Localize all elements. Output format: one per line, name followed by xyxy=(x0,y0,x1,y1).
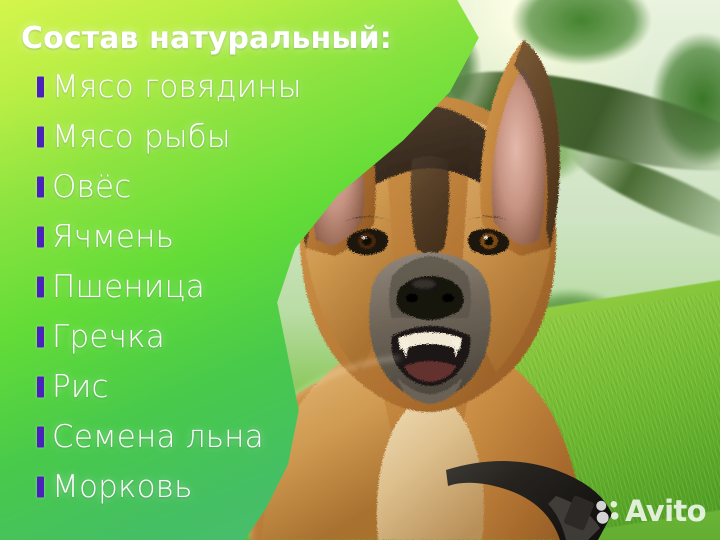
ingredient-label: Рис xyxy=(52,372,109,403)
list-item: Гречка xyxy=(0,312,420,362)
list-item: Морковь xyxy=(0,462,420,512)
ingredient-label: Морковь xyxy=(52,472,193,503)
list-item: Пшеница xyxy=(0,262,420,312)
vertical-bar-bullet-icon xyxy=(37,427,44,448)
ingredient-list: Мясо говядины Мясо рыбы Овёс Ячмень Пшен… xyxy=(0,62,420,512)
vertical-bar-bullet-icon xyxy=(37,327,44,348)
avito-watermark: Avito xyxy=(595,497,706,526)
vertical-bar-bullet-icon xyxy=(37,127,44,148)
list-item: Ячмень xyxy=(0,212,420,262)
ingredient-label: Овёс xyxy=(52,172,131,203)
ingredient-label: Ячмень xyxy=(52,222,174,253)
vertical-bar-bullet-icon xyxy=(37,227,44,248)
ingredient-label: Мясо рыбы xyxy=(52,122,231,153)
product-card: Состав натуральный: Мясо говядины Мясо р… xyxy=(0,0,720,540)
list-item: Мясо рыбы xyxy=(0,112,420,162)
avito-wordmark: Avito xyxy=(625,497,706,526)
ingredient-label: Семена льна xyxy=(52,422,264,453)
list-item: Семена льна xyxy=(0,412,420,462)
list-item: Рис xyxy=(0,362,420,412)
vertical-bar-bullet-icon xyxy=(37,277,44,298)
ingredient-label: Гречка xyxy=(52,322,165,353)
ingredient-label: Пшеница xyxy=(52,272,205,303)
avito-dots-icon xyxy=(595,499,620,524)
ingredient-label: Мясо говядины xyxy=(52,72,302,103)
vertical-bar-bullet-icon xyxy=(37,177,44,198)
list-item: Мясо говядины xyxy=(0,62,420,112)
vertical-bar-bullet-icon xyxy=(37,477,44,498)
page-title: Состав натуральный: xyxy=(21,21,392,56)
list-item: Овёс xyxy=(0,162,420,212)
text-content: Состав натуральный: Мясо говядины Мясо р… xyxy=(0,0,720,540)
vertical-bar-bullet-icon xyxy=(37,77,44,98)
vertical-bar-bullet-icon xyxy=(37,377,44,398)
